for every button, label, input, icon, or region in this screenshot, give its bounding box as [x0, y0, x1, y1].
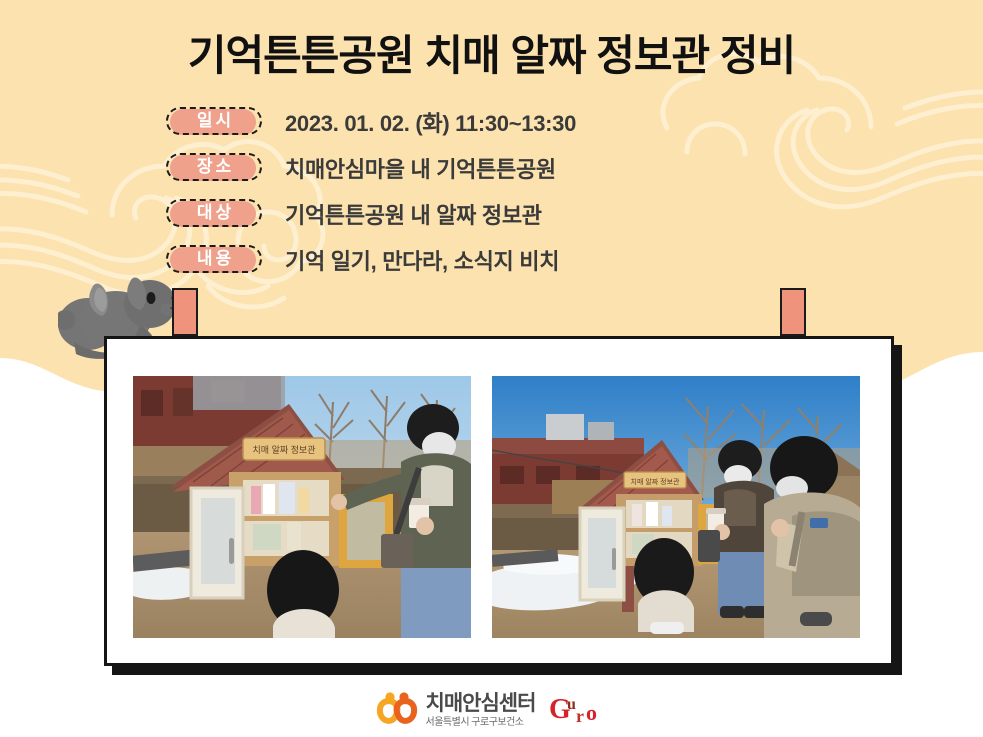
- page-title: 기억튼튼공원 치매 알짜 정보관 정비: [0, 22, 983, 83]
- org-name: 치매안심센터: [426, 693, 536, 714]
- svg-text:r: r: [576, 706, 584, 726]
- photo-left: 치매 알짜 정보관: [133, 376, 471, 638]
- info-value-text: 치매안심마을 내 기억튼튼공원: [285, 152, 556, 184]
- info-row-content: 내용 기억 일기, 만다라, 소식지 비치: [166, 237, 576, 283]
- info-label-pill: 장소: [166, 153, 268, 183]
- center-symbol-icon: [376, 690, 418, 730]
- org-subtitle: 서울특별시 구로구보건소: [426, 718, 536, 728]
- info-label-text: 장소: [166, 153, 262, 181]
- info-label-text: 대상: [166, 199, 262, 227]
- info-value-text: 기억 일기, 만다라, 소식지 비치: [285, 244, 559, 276]
- info-label-pill: 대상: [166, 199, 268, 229]
- svg-text:치매 알짜 정보관: 치매 알짜 정보관: [631, 477, 681, 486]
- org-text-block: 치매안심센터 서울특별시 구로구보건소: [426, 693, 536, 728]
- poster-canvas: 기억튼튼공원 치매 알짜 정보관 정비 일시 2023. 01. 02. (화)…: [0, 0, 983, 737]
- info-list: 일시 2023. 01. 02. (화) 11:30~13:30 장소 치매안심…: [166, 99, 576, 283]
- info-value-text: 기억튼튼공원 내 알짜 정보관: [285, 198, 542, 230]
- info-value-text: 2023. 01. 02. (화) 11:30~13:30: [285, 106, 576, 138]
- info-row-place: 장소 치매안심마을 내 기억튼튼공원: [166, 145, 576, 191]
- info-row-date: 일시 2023. 01. 02. (화) 11:30~13:30: [166, 99, 576, 145]
- tape-tab-right: [780, 288, 806, 336]
- info-label-text: 일시: [166, 107, 262, 135]
- guro-wordmark: G u r o: [549, 692, 607, 728]
- svg-text:o: o: [586, 700, 597, 725]
- tape-tab-left: [172, 288, 198, 336]
- photo-right: 치매 알짜 정보관: [492, 376, 860, 638]
- info-row-target: 대상 기억튼튼공원 내 알짜 정보관: [166, 191, 576, 237]
- svg-text:u: u: [567, 696, 576, 713]
- footer-logo-group: 치매안심센터 서울특별시 구로구보건소 G u r o: [0, 690, 983, 730]
- info-label-pill: 일시: [166, 107, 268, 137]
- svg-text:치매 알짜 정보관: 치매 알짜 정보관: [253, 444, 316, 455]
